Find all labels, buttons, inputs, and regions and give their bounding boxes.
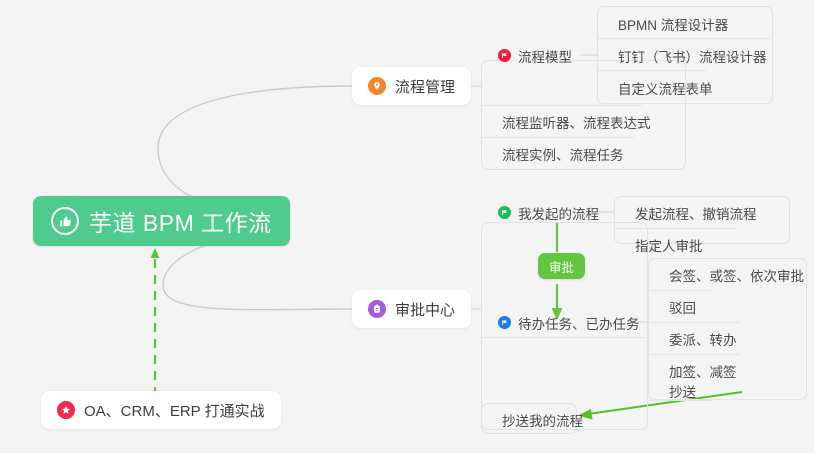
branch-label: 流程管理 bbox=[395, 76, 455, 97]
leaf-node-todo-done-tasks[interactable]: 待办任务、已办任务 bbox=[489, 307, 651, 338]
leaf-label: 流程模型 bbox=[518, 46, 572, 66]
leaf-node-reject[interactable]: 驳回 bbox=[651, 291, 707, 322]
leaf-node-delegate-transfer[interactable]: 委派、转办 bbox=[651, 323, 748, 354]
leaf-label: 待办任务、已办任务 bbox=[518, 313, 640, 333]
approval-pill[interactable]: 审批 bbox=[538, 253, 585, 279]
leaf-node-cc-my-processes[interactable]: 抄送我的流程 bbox=[484, 404, 594, 435]
leaf-label: 流程实例、流程任务 bbox=[502, 144, 624, 164]
leaf-node-dingtalk-designer[interactable]: 钉钉（飞书）流程设计器 bbox=[600, 40, 778, 71]
leaf-label: 会签、或签、依次审批 bbox=[669, 265, 804, 285]
leaf-node-custom-form[interactable]: 自定义流程表单 bbox=[600, 72, 724, 103]
leaf-label: 驳回 bbox=[669, 297, 696, 317]
pill-label: 审批 bbox=[549, 257, 574, 276]
star-icon bbox=[57, 401, 75, 419]
leaf-label: 我发起的流程 bbox=[518, 203, 599, 223]
leaf-label: BPMN 流程设计器 bbox=[618, 14, 728, 34]
leaf-node-listener-expression[interactable]: 流程监听器、流程表达式 bbox=[484, 106, 662, 137]
flag-blue-icon bbox=[498, 316, 511, 329]
leaf-node-countersign[interactable]: 会签、或签、依次审批 bbox=[651, 259, 814, 290]
leaf-label: 钉钉（飞书）流程设计器 bbox=[618, 46, 767, 66]
leaf-node-assignee-approval[interactable]: 指定人审批 bbox=[617, 229, 714, 260]
mindmap-canvas: 芋道 BPM 工作流 OA、CRM、ERP 打通实战 流程管理 流程模型 bbox=[0, 0, 814, 453]
leaf-label: 委派、转办 bbox=[669, 329, 737, 349]
leaf-label: 自定义流程表单 bbox=[618, 78, 713, 98]
leaf-node-start-cancel-process[interactable]: 发起流程、撤销流程 bbox=[617, 197, 768, 228]
branch-node-process-management[interactable]: 流程管理 bbox=[352, 67, 471, 105]
leaf-label: 发起流程、撤销流程 bbox=[635, 203, 757, 223]
note-label: OA、CRM、ERP 打通实战 bbox=[84, 400, 265, 421]
branch-node-approval-center[interactable]: 审批中心 bbox=[352, 290, 471, 328]
note-node[interactable]: OA、CRM、ERP 打通实战 bbox=[41, 391, 281, 429]
flag-red-icon bbox=[498, 49, 511, 62]
flag-green-icon bbox=[498, 206, 511, 219]
leaf-node-bpmn-designer[interactable]: BPMN 流程设计器 bbox=[600, 8, 739, 39]
clipboard-icon bbox=[368, 300, 386, 318]
leaf-label: 抄送 bbox=[669, 381, 696, 401]
location-pin-icon bbox=[368, 77, 386, 95]
dashed-green-arrow bbox=[151, 248, 160, 396]
leaf-node-cc[interactable]: 抄送 bbox=[651, 375, 707, 406]
leaf-node-my-initiated[interactable]: 我发起的流程 bbox=[489, 197, 610, 228]
root-node[interactable]: 芋道 BPM 工作流 bbox=[33, 196, 290, 246]
branch-label: 审批中心 bbox=[395, 299, 455, 320]
root-label: 芋道 BPM 工作流 bbox=[89, 204, 272, 238]
leaf-label: 指定人审批 bbox=[635, 235, 703, 255]
thumbs-up-icon bbox=[51, 207, 79, 235]
leaf-node-instance-task[interactable]: 流程实例、流程任务 bbox=[484, 138, 635, 169]
leaf-node-process-model[interactable]: 流程模型 bbox=[489, 40, 583, 71]
leaf-label: 流程监听器、流程表达式 bbox=[502, 112, 651, 132]
leaf-label: 抄送我的流程 bbox=[502, 410, 583, 430]
